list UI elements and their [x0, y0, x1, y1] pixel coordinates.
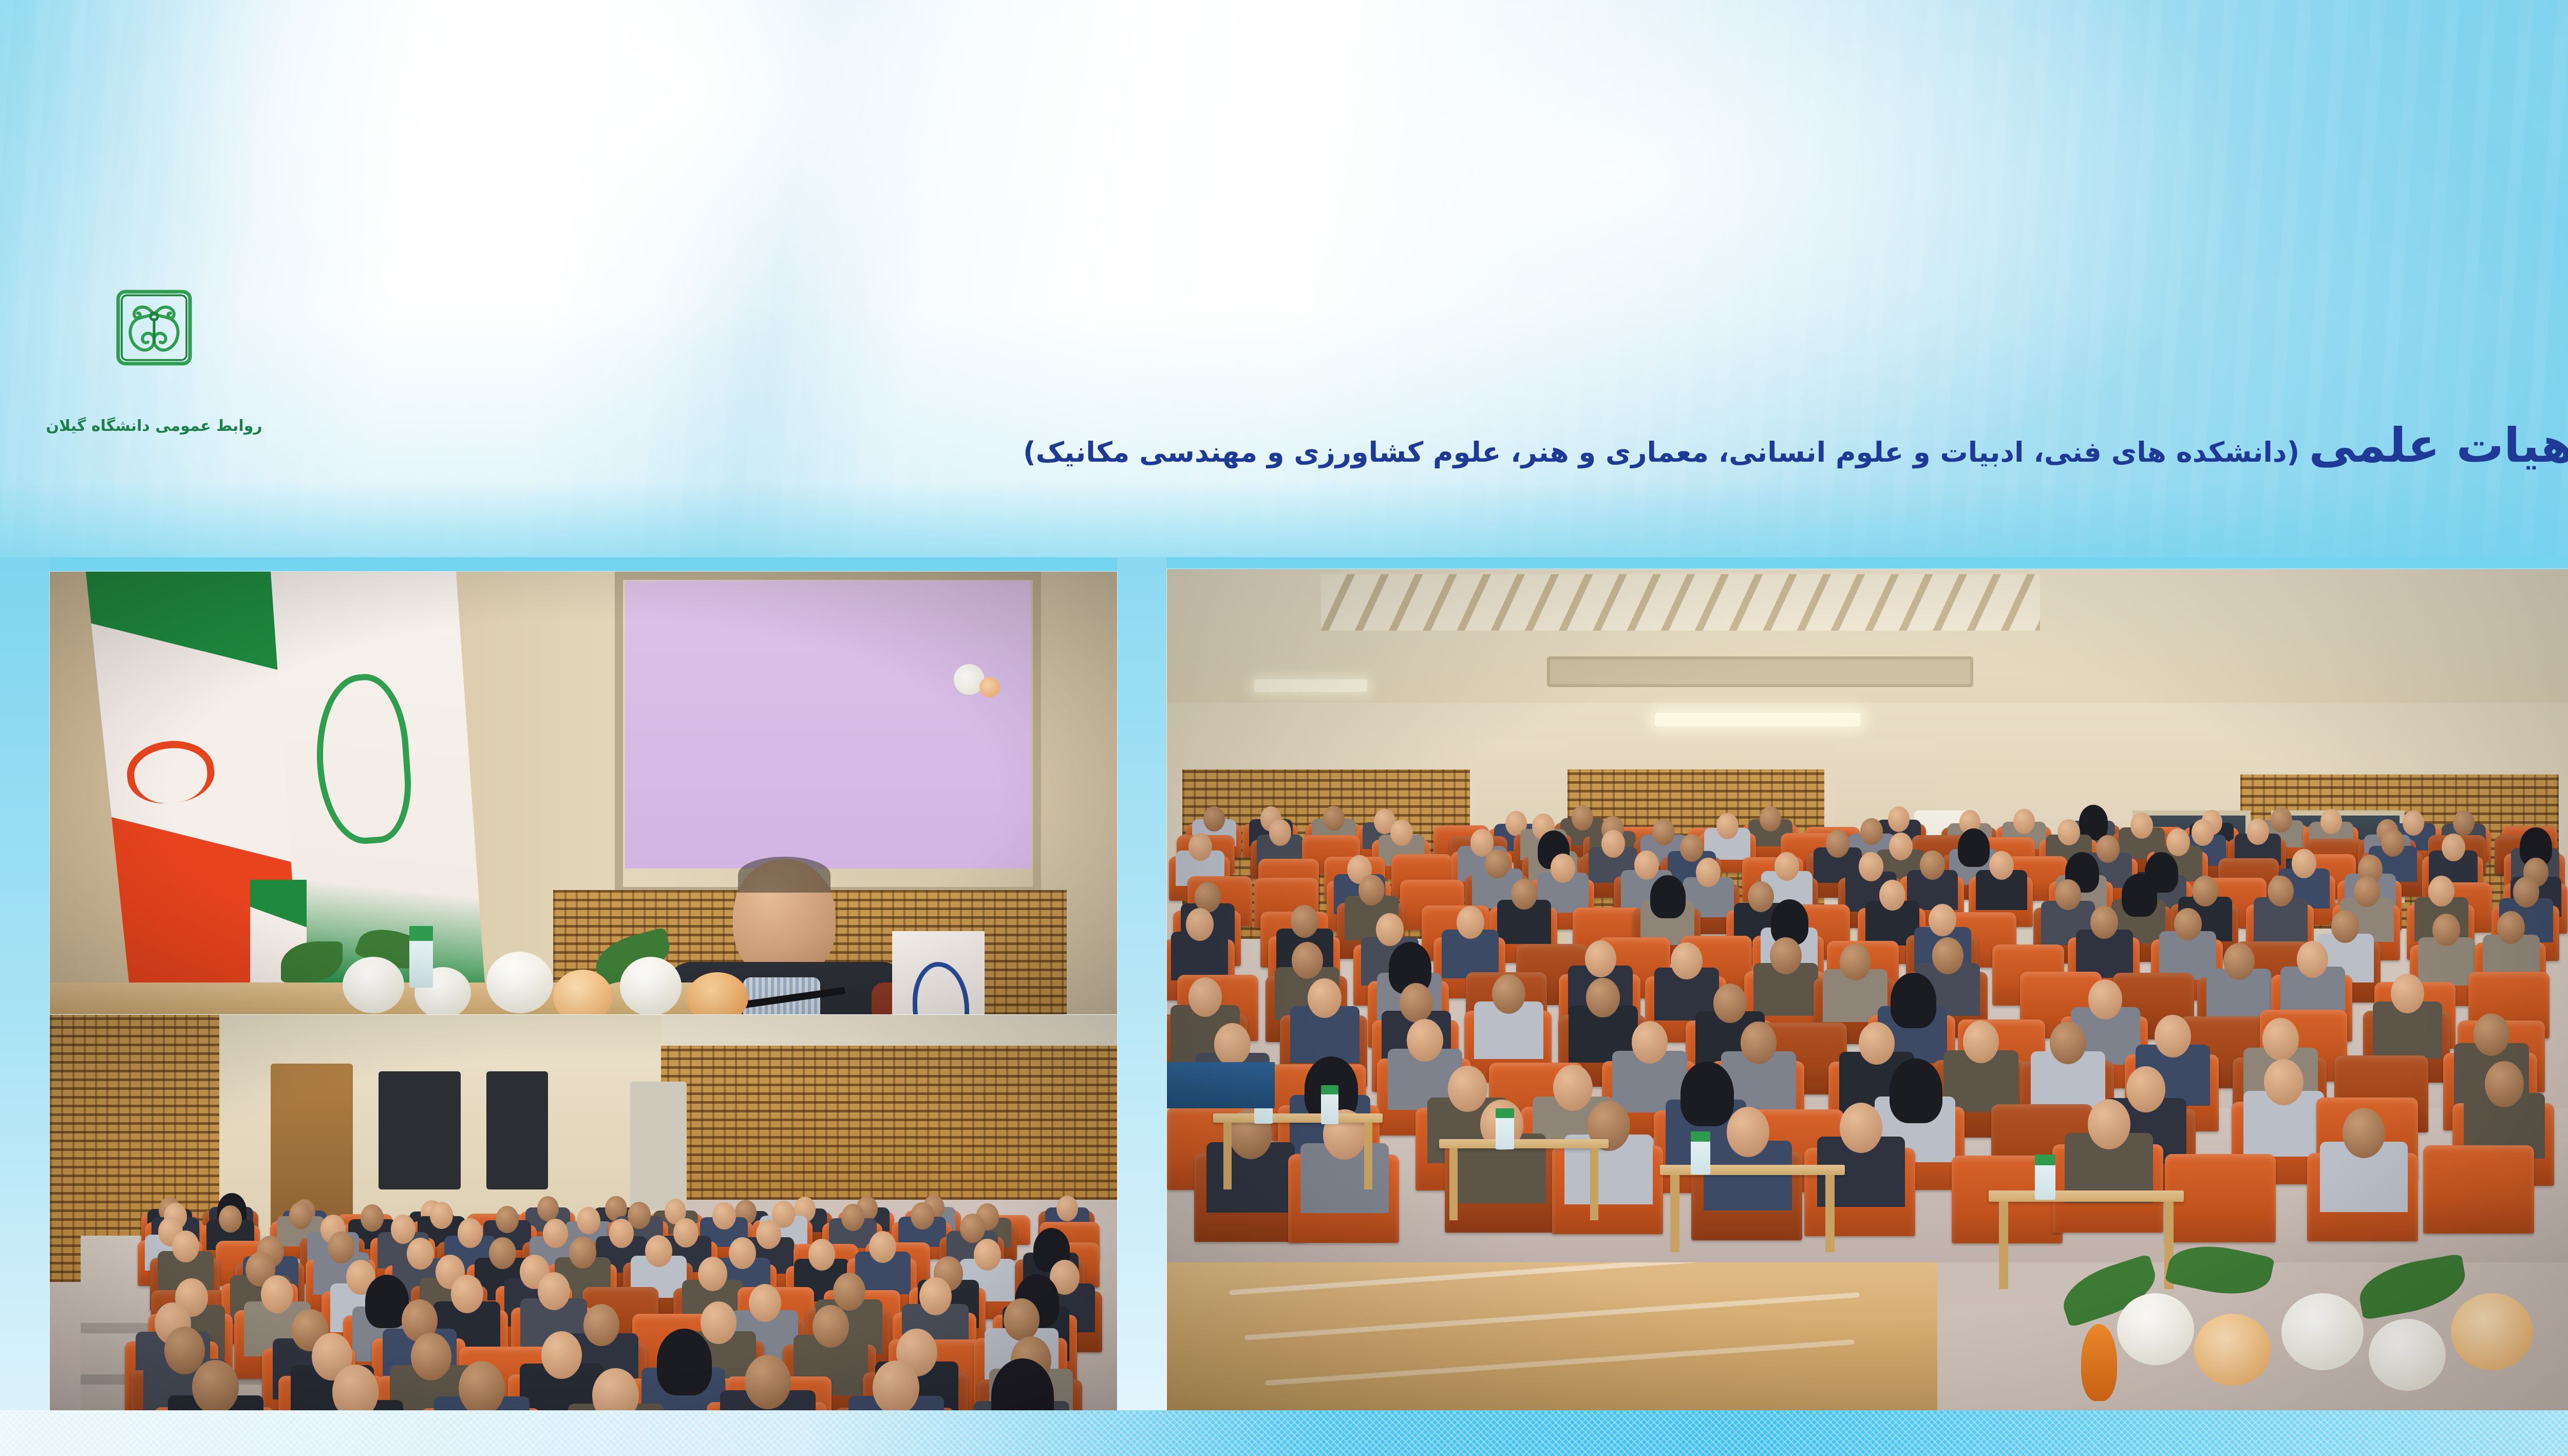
event-headline: نشست هم اندیشی رئیس دانشگاه با اعضای هیا… [1023, 422, 2568, 469]
photo-hall-wide [1167, 569, 2568, 1411]
banner-bottom-glow [0, 480, 2568, 557]
public-relations-caption: روابط عمومی دانشگاه گیلان [46, 417, 262, 435]
photo-audience-left [50, 1015, 1117, 1410]
bottom-band-mesh [0, 1410, 2568, 1456]
svg-text:دانشگاه گیلان: دانشگاه گیلان [212, 387, 213, 407]
university-logo-block: دانشگاه گیلان روابط عمومی دانشگاه گیلان [46, 288, 262, 435]
logo-wordmark-guilan-university: دانشگاه گیلان [95, 382, 213, 410]
photo-speaker-podium [50, 572, 1117, 1014]
bottom-decorative-band [0, 1410, 2568, 1456]
banner-sheen [0, 0, 2568, 557]
headline-sub-text: (دانشکده های فنی، ادبیات و علوم انسانی، … [1023, 436, 2299, 468]
banner-streaks [0, 0, 2568, 557]
university-of-guilan-emblem-icon [113, 288, 195, 380]
column-gap-strip-1 [1117, 557, 1167, 1410]
left-edge-strip [0, 557, 50, 1410]
banner-header [0, 0, 2568, 557]
headline-main-text: نشست هم اندیشی رئیس دانشگاه با اعضای هیا… [2309, 418, 2568, 473]
